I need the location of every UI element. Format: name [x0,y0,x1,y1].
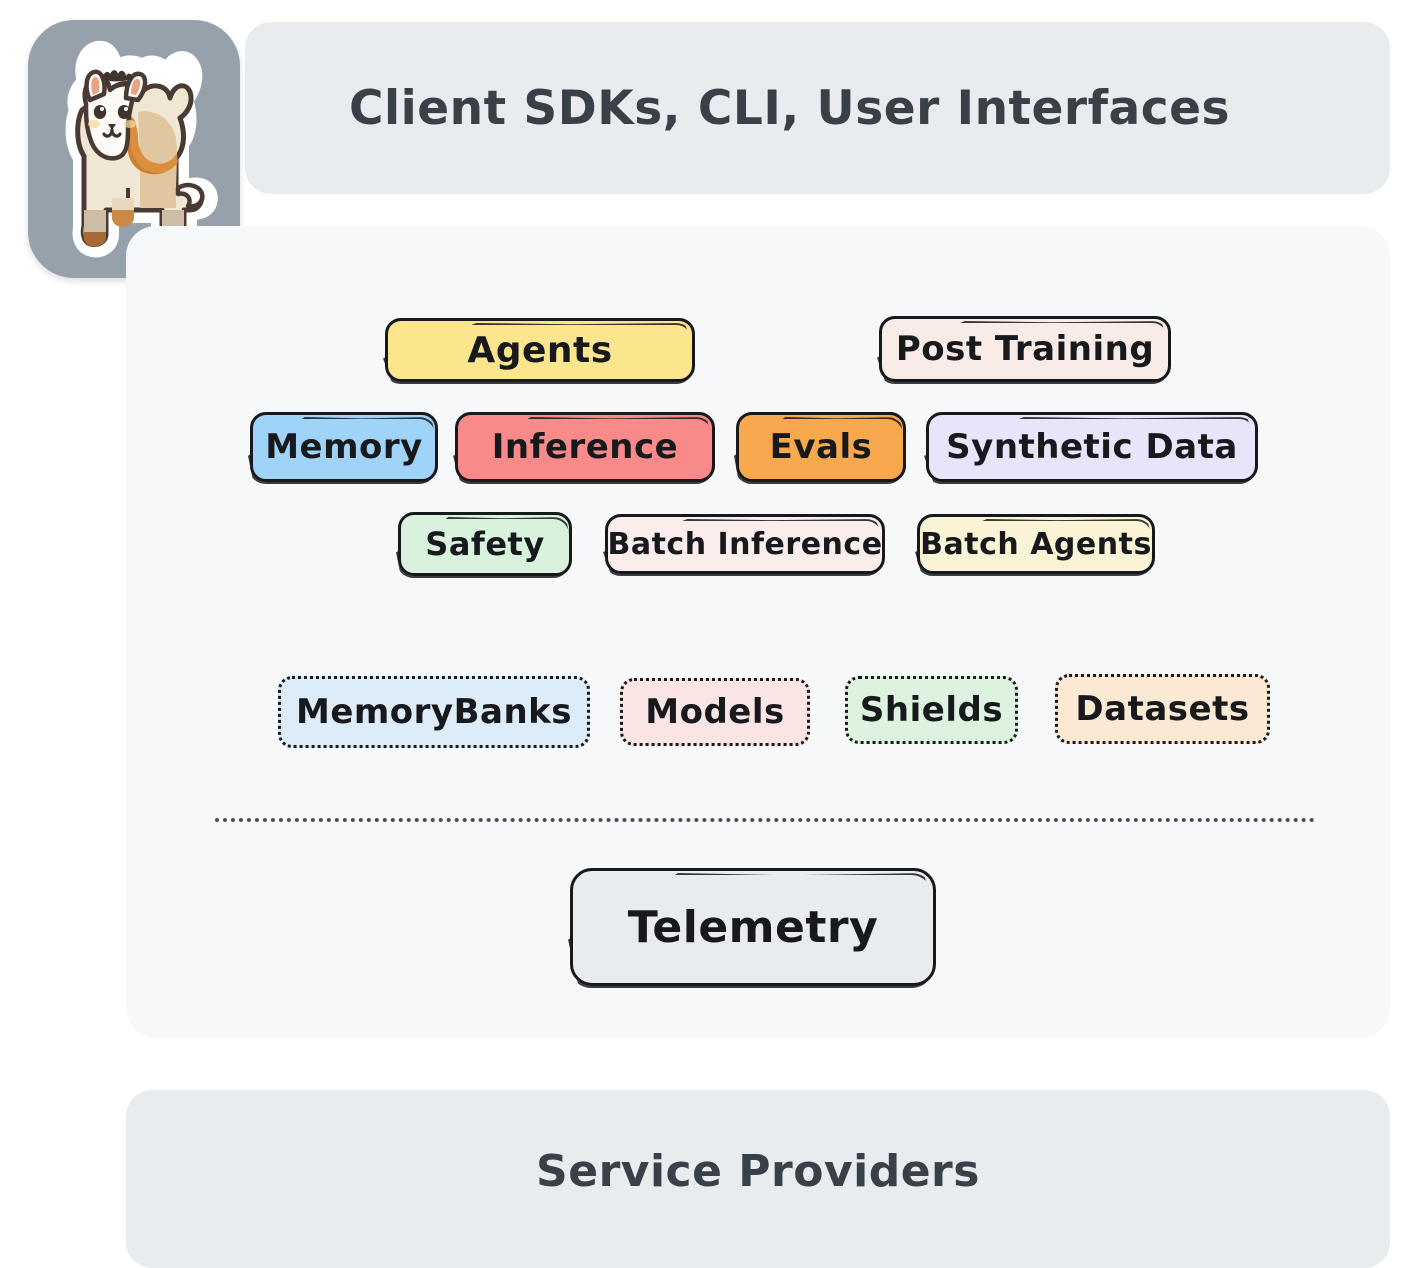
api-box-synthetic-data[interactable]: Synthetic Data [926,412,1258,482]
api-box-batch-agents[interactable]: Batch Agents [917,514,1155,574]
api-box-label: Batch Inference [607,527,882,562]
api-box-label: Synthetic Data [946,427,1238,467]
api-box-agents[interactable]: Agents [385,318,695,382]
api-box-safety[interactable]: Safety [398,512,572,576]
resource-box-shields[interactable]: Shields [845,676,1018,744]
api-box-memory[interactable]: Memory [250,412,438,482]
api-box-evals[interactable]: Evals [736,412,906,482]
section-divider [215,818,1315,822]
resource-box-label: Shields [860,690,1003,730]
resource-box-label: Datasets [1075,689,1249,729]
api-box-label: Post Training [896,329,1154,369]
api-box-post-training[interactable]: Post Training [879,316,1171,382]
api-box-label: Agents [467,330,612,371]
api-box-label: Memory [265,427,423,467]
api-box-batch-inference[interactable]: Batch Inference [605,514,885,574]
resource-box-memorybanks[interactable]: MemoryBanks [278,676,590,748]
api-box-label: Batch Agents [920,527,1152,562]
api-box-inference[interactable]: Inference [455,412,715,482]
resource-box-datasets[interactable]: Datasets [1055,674,1270,744]
header-band: Client SDKs, CLI, User Interfaces [245,22,1390,194]
resource-box-label: Models [645,692,784,732]
api-box-label: Evals [770,427,873,467]
service-providers-title: Service Providers [536,1146,980,1197]
page-title: Client SDKs, CLI, User Interfaces [349,81,1230,136]
api-box-label: Inference [492,427,678,467]
api-box-label: Safety [425,525,544,563]
telemetry-box[interactable]: Telemetry [570,868,936,986]
service-providers-band: Service Providers [126,1090,1390,1268]
telemetry-label: Telemetry [628,902,879,953]
resource-box-models[interactable]: Models [620,678,810,746]
resource-box-label: MemoryBanks [296,692,572,732]
